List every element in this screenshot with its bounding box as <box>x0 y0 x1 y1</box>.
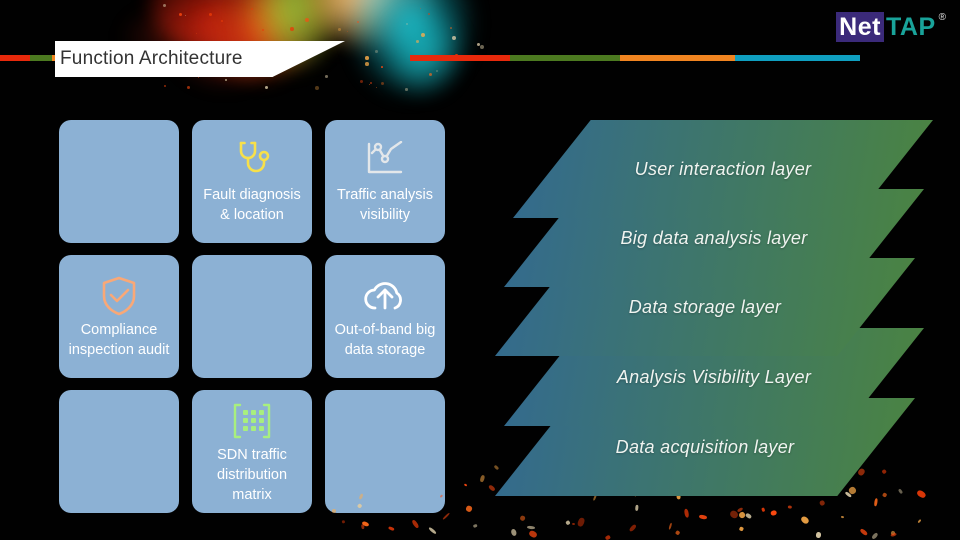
powder-speck <box>421 33 425 37</box>
architecture-layer-label: User interaction layer <box>635 159 812 180</box>
ember-particle <box>577 517 586 527</box>
powder-speck <box>305 18 309 22</box>
powder-speck <box>436 70 438 72</box>
powder-speck <box>262 29 264 31</box>
ember-particle <box>816 532 822 539</box>
powder-speck <box>185 15 186 16</box>
architecture-layer-label: Data acquisition layer <box>616 437 795 458</box>
ember-particle <box>770 510 777 517</box>
ember-particle <box>358 493 363 500</box>
powder-speck <box>251 8 253 10</box>
function-card-label: Compliance inspection audit <box>65 320 173 360</box>
ember-particle <box>519 515 526 522</box>
powder-speck <box>369 84 370 85</box>
function-card-5[interactable] <box>192 255 312 378</box>
powder-speck <box>325 75 328 78</box>
accent-seg-teal <box>735 55 860 61</box>
ember-particle <box>332 508 337 512</box>
ember-particle <box>342 519 346 523</box>
function-card-6[interactable]: Out-of-band big data storage <box>325 255 445 378</box>
shield-check-icon <box>100 274 138 318</box>
ember-particle <box>761 508 765 512</box>
function-card-label: Out-of-band big data storage <box>331 320 439 360</box>
ember-particle <box>787 505 792 509</box>
nettap-logo: Net TAP ® <box>836 12 946 42</box>
powder-speck <box>290 27 294 31</box>
ember-particle <box>841 516 844 518</box>
architecture-layer-stack: User interaction layerBig data analysis … <box>495 115 950 495</box>
ember-particle <box>510 528 517 537</box>
powder-speck <box>420 8 421 9</box>
ember-particle <box>629 524 637 532</box>
ember-particle <box>440 494 443 497</box>
powder-speck <box>480 45 484 49</box>
powder-speck <box>428 13 430 15</box>
ember-particle <box>411 519 419 528</box>
ember-particle <box>464 483 468 487</box>
accent-seg-green <box>30 55 52 61</box>
slide-root: Function Architecture Net TAP ® Fault di… <box>0 0 960 540</box>
powder-speck <box>375 50 378 53</box>
accent-seg-orange <box>620 55 735 61</box>
stethoscope-icon <box>232 139 272 183</box>
function-card-label: Traffic analysis visibility <box>331 185 439 225</box>
ember-particle <box>428 526 437 534</box>
ember-particle <box>488 484 496 491</box>
registered-trademark-icon: ® <box>939 13 946 23</box>
ember-particle <box>494 465 500 471</box>
ember-particle <box>917 518 922 523</box>
ember-particle <box>898 489 903 495</box>
powder-speck <box>405 88 408 91</box>
powder-speck <box>416 40 419 43</box>
powder-speck <box>265 86 268 89</box>
ember-particle <box>871 532 879 540</box>
function-card-grid: Fault diagnosis & location Traffic analy… <box>59 120 451 502</box>
ember-particle <box>800 515 810 524</box>
ember-particle <box>882 493 887 498</box>
function-card-4[interactable]: Compliance inspection audit <box>59 255 179 378</box>
function-card-2[interactable]: Fault diagnosis & location <box>192 120 312 243</box>
ember-particle <box>527 526 535 530</box>
powder-speck <box>381 66 383 68</box>
ember-particle <box>881 469 887 474</box>
ember-particle <box>874 498 878 506</box>
ember-particle <box>465 505 473 513</box>
accent-seg-green <box>510 55 620 61</box>
ember-particle <box>388 526 394 531</box>
accent-seg-red <box>410 55 510 61</box>
ember-particle <box>890 533 897 538</box>
ember-particle <box>572 522 575 525</box>
ember-particle <box>442 512 450 519</box>
function-card-label: Fault diagnosis & location <box>198 185 306 225</box>
accent-seg-red <box>0 55 30 61</box>
architecture-layer-label: Analysis Visibility Layer <box>617 367 811 388</box>
ember-particle <box>819 499 826 506</box>
ember-particle <box>605 535 611 540</box>
powder-speck <box>187 86 190 89</box>
powder-speck <box>450 27 452 29</box>
powder-speck <box>164 85 166 87</box>
ember-particle <box>745 513 752 519</box>
ember-particle <box>668 522 672 529</box>
ember-particle <box>357 503 362 508</box>
matrix-grid-icon <box>232 399 272 443</box>
ember-particle <box>860 527 868 535</box>
function-card-3[interactable]: Traffic analysis visibility <box>325 120 445 243</box>
powder-speck <box>360 80 363 83</box>
ember-particle <box>675 531 680 536</box>
page-title: Function Architecture <box>60 45 320 73</box>
ember-particle <box>566 520 571 526</box>
ember-particle <box>480 474 485 482</box>
ember-particle <box>683 508 689 517</box>
logo-net-text: Net <box>836 12 884 42</box>
powder-speck <box>365 56 369 60</box>
architecture-layer-label: Data storage layer <box>629 297 781 318</box>
cloud-upload-icon <box>362 274 408 318</box>
ember-particle <box>528 529 538 538</box>
ember-particle <box>473 523 477 527</box>
header-accent-bar-right <box>410 55 860 61</box>
logo-tap-text: TAP <box>884 12 936 42</box>
powder-speck <box>365 62 369 66</box>
powder-speck <box>315 86 319 90</box>
ember-particle <box>635 505 639 511</box>
ember-particle <box>739 526 744 531</box>
powder-speck <box>452 36 456 40</box>
architecture-layer-label: Big data analysis layer <box>621 228 808 249</box>
function-card-1[interactable] <box>59 120 179 243</box>
line-chart-icon <box>364 139 406 183</box>
ember-particle <box>699 514 707 519</box>
ember-particle <box>916 489 926 498</box>
